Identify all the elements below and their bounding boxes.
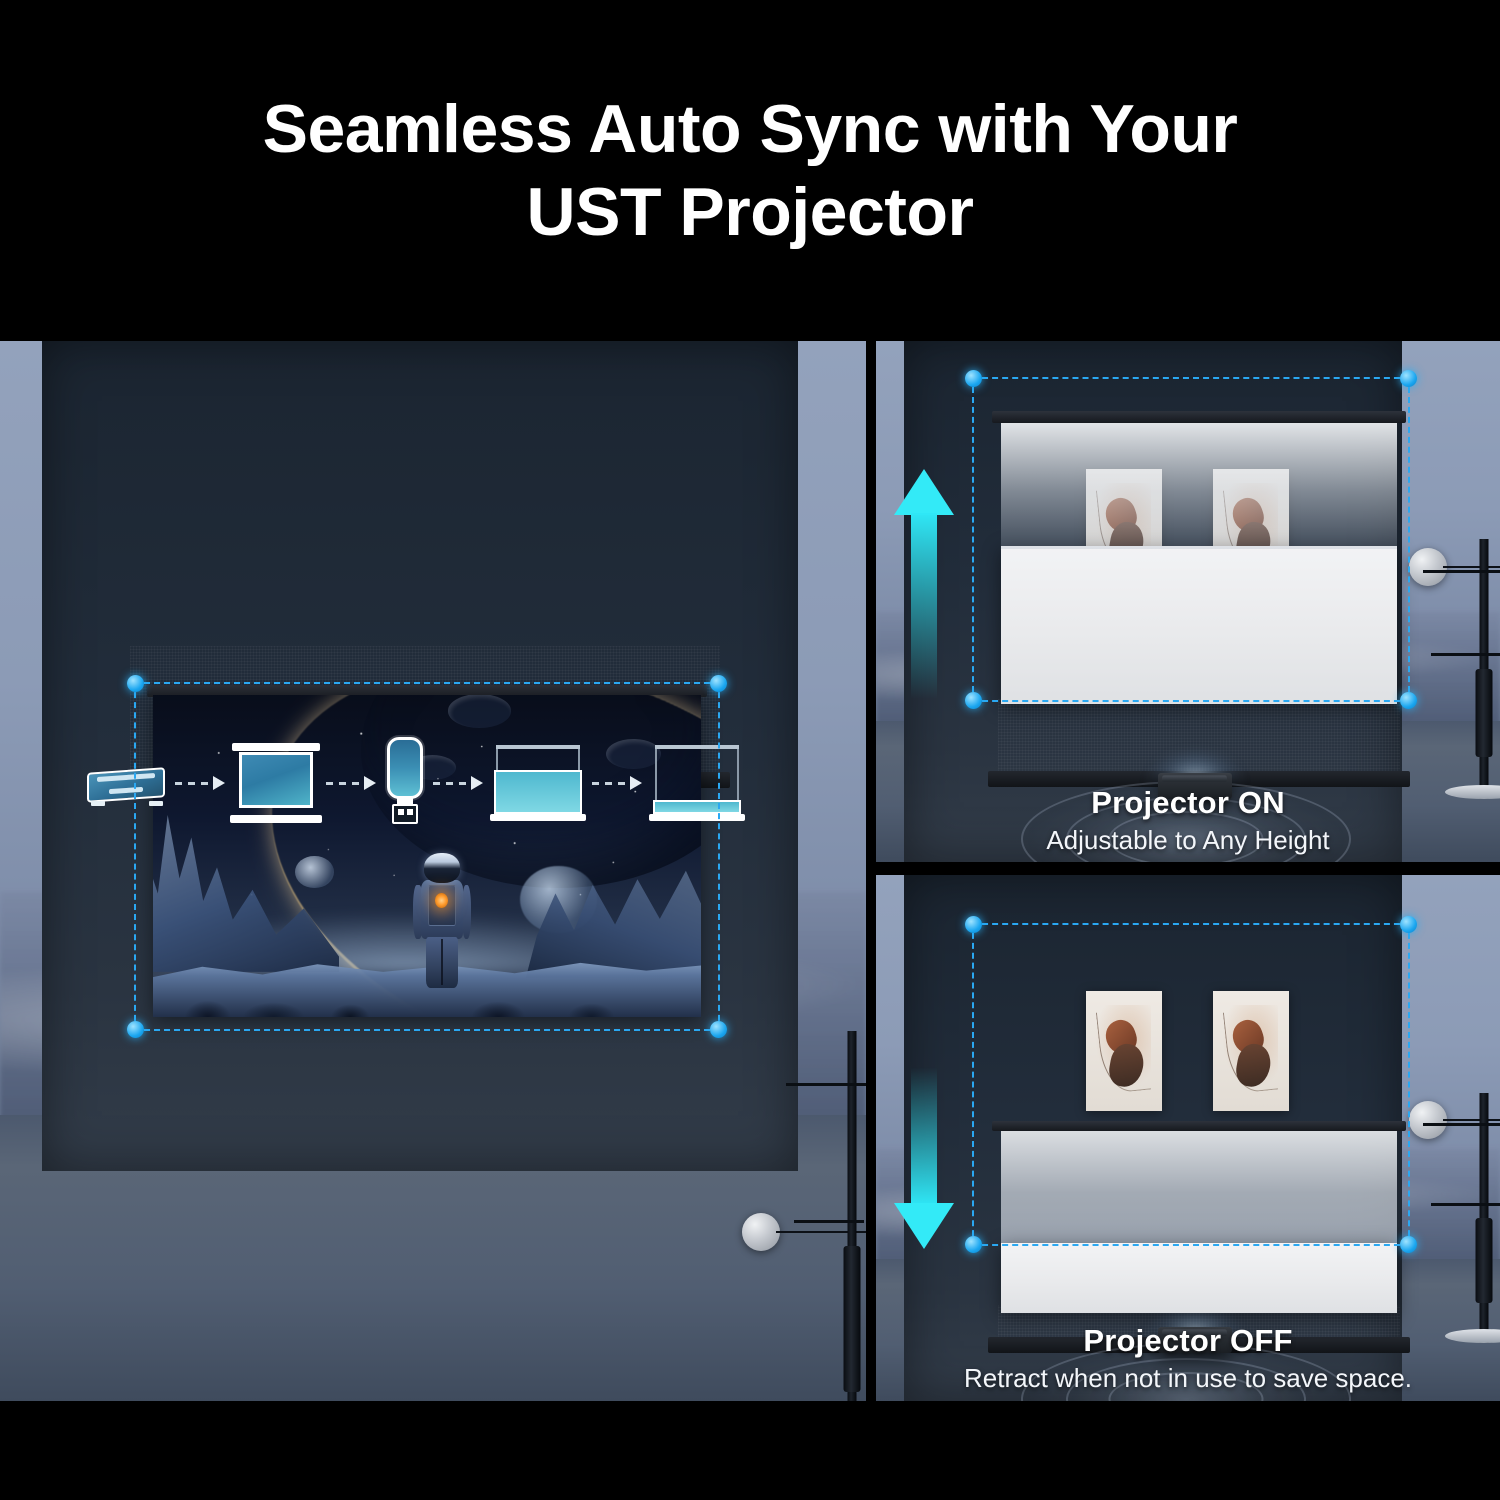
selection-handle-icon[interactable] — [127, 675, 144, 692]
main-scene-panel — [0, 341, 866, 1401]
panels-stage: Projector ON Adjustable to Any Height — [0, 341, 1500, 1401]
projector-off-caption: Projector OFF Retract when not in use to… — [876, 1323, 1500, 1394]
selection-handle-icon[interactable] — [965, 692, 982, 709]
projection-screen — [1001, 1243, 1397, 1313]
projector-off-panel: Projector OFF Retract when not in use to… — [876, 875, 1500, 1401]
selection-handle-icon[interactable] — [1400, 370, 1417, 387]
screen-selection-box[interactable] — [972, 377, 1410, 702]
selection-handle-icon[interactable] — [1400, 1236, 1417, 1253]
floor-lamp-icon — [1449, 1093, 1500, 1343]
selection-handle-icon[interactable] — [710, 1021, 727, 1038]
footer-band — [0, 1401, 1500, 1500]
arrow-down-icon — [894, 1067, 954, 1249]
screen-cassette — [998, 699, 1400, 775]
page-title-line-2: UST Projector — [527, 171, 974, 254]
caption-subtitle: Adjustable to Any Height — [876, 825, 1500, 856]
floor-lamp-icon — [1449, 539, 1500, 799]
selection-handle-icon[interactable] — [710, 675, 727, 692]
caption-title: Projector ON — [876, 785, 1500, 821]
projector-on-caption: Projector ON Adjustable to Any Height — [876, 785, 1500, 856]
selection-handle-icon[interactable] — [965, 1236, 982, 1253]
caption-subtitle: Retract when not in use to save space. — [876, 1363, 1500, 1394]
screen-selection-box[interactable] — [134, 682, 720, 1031]
projector-on-panel: Projector ON Adjustable to Any Height — [876, 341, 1500, 862]
caption-title: Projector OFF — [876, 1323, 1500, 1359]
page-title-line-1: Seamless Auto Sync with Your — [263, 88, 1238, 171]
selection-handle-icon[interactable] — [1400, 916, 1417, 933]
selection-handle-icon[interactable] — [127, 1021, 144, 1038]
selection-handle-icon[interactable] — [965, 916, 982, 933]
floor-lamp-icon — [812, 1031, 866, 1401]
header-banner: Seamless Auto Sync with Your UST Project… — [0, 0, 1500, 341]
selection-handle-icon[interactable] — [1400, 692, 1417, 709]
screen-selection-box[interactable] — [972, 923, 1410, 1246]
arrow-up-icon — [894, 469, 954, 699]
selection-handle-icon[interactable] — [965, 370, 982, 387]
